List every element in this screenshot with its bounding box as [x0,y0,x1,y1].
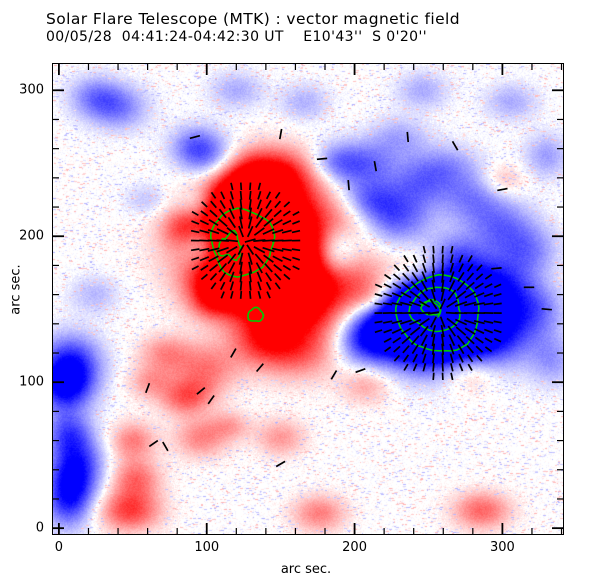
figure-title: Solar Flare Telescope (MTK) : vector mag… [46,10,586,46]
y-tick-label: 100 [0,375,44,390]
y-tick-label: 0 [0,521,44,536]
y-axis-title: arc sec. [9,240,24,340]
x-tick-label: 100 [194,540,219,555]
x-axis-title: arc sec. [0,562,612,577]
solar-magnetogram-figure: Solar Flare Telescope (MTK) : vector mag… [0,0,612,585]
title-line-1: Solar Flare Telescope (MTK) : vector mag… [46,10,586,29]
x-tick-label: 200 [342,540,367,555]
y-tick-label: 300 [0,83,44,98]
x-tick-label: 300 [490,540,515,555]
x-tick-label: 0 [55,540,63,555]
magnetogram-image [53,64,563,534]
title-line-2: 00/05/28 04:41:24-04:42:30 UT E10'43'' S… [46,29,586,46]
plot-area [52,63,564,535]
